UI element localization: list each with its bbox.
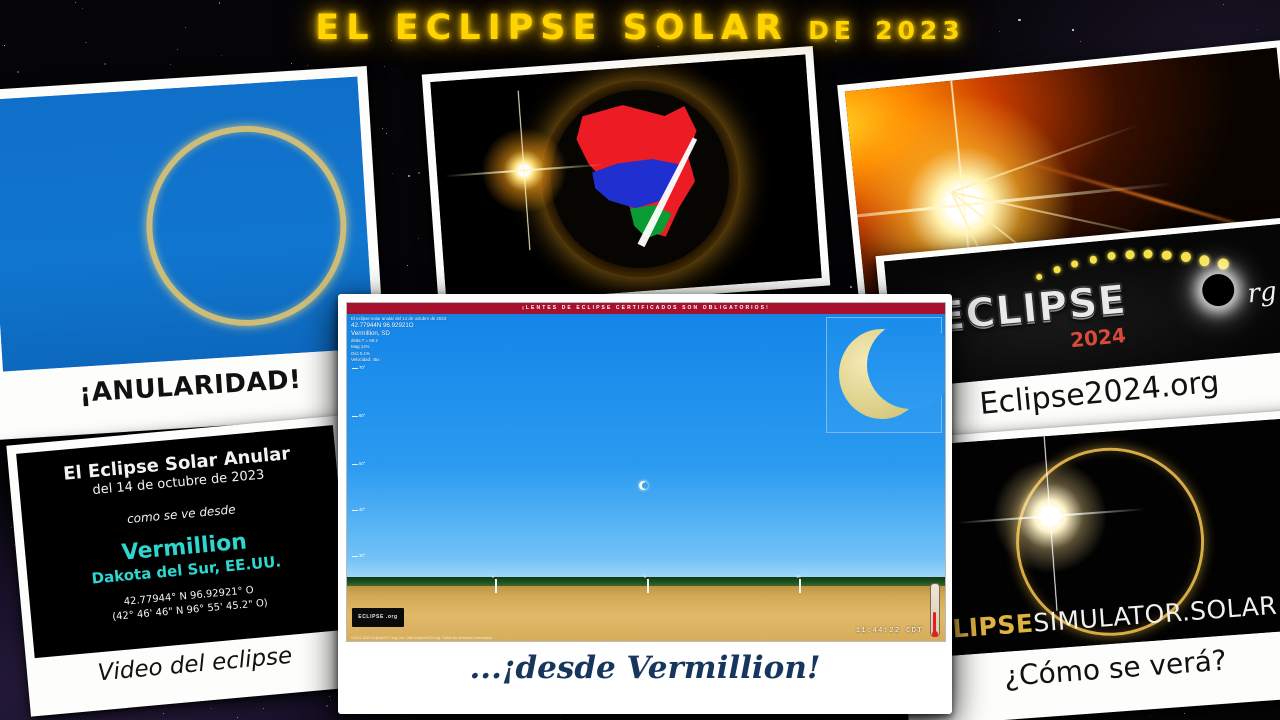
eclipse2024-org-suffix: rg bbox=[1246, 277, 1278, 310]
thermometer-bulb bbox=[932, 631, 938, 637]
crescent-sun-icon bbox=[639, 481, 648, 490]
azimuth-marker-post: 0 bbox=[495, 579, 497, 593]
azimuth-marker-post: 5 bbox=[647, 579, 649, 593]
azimuth-marker-label: 0 bbox=[492, 574, 494, 579]
sim-info-magnitude: Mag 14% bbox=[351, 344, 370, 349]
sim-info-delta-t: delta T = 69.2 bbox=[351, 338, 378, 343]
altitude-tick: 70° bbox=[359, 365, 365, 370]
azimuth-marker-label: 5 bbox=[644, 574, 646, 579]
card-globe[interactable] bbox=[422, 46, 831, 314]
sim-info-location: Vermillion, SD bbox=[351, 330, 446, 338]
simulator-timestamp: 11:44:22 CDT bbox=[856, 627, 923, 635]
eclipse-org-watermark: ECLIPSE .org bbox=[352, 608, 404, 627]
card-main-simulator[interactable]: ¡LENTES DE ECLIPSE CERTIFICADOS SON OBLI… bbox=[338, 294, 952, 714]
sim-info-coords: 42.77944N 96.92921O bbox=[351, 322, 446, 330]
sim-info-obscuration: Osc 5.1% bbox=[351, 351, 370, 356]
globe-photo bbox=[430, 55, 821, 306]
magnified-sun-inset[interactable] bbox=[826, 317, 942, 433]
page-title: EL ECLIPSE SOLAR DE 2023 bbox=[0, 8, 1280, 48]
safety-banner: ¡LENTES DE ECLIPSE CERTIFICADOS SON OBLI… bbox=[347, 303, 945, 314]
page-title-year: 2023 bbox=[875, 16, 965, 45]
simulator-info-panel: El eclipse solar anular del 14 de octubr… bbox=[351, 316, 446, 363]
sim-info-speed: Velocidad: 45x bbox=[351, 357, 380, 362]
simulator-solar-logo-image: ECLIPSESIMULATOR.SOLAR bbox=[897, 418, 1280, 659]
azimuth-marker-post: 10 bbox=[799, 579, 801, 593]
annularity-photo bbox=[0, 77, 374, 372]
sun-flare-icon bbox=[478, 124, 570, 216]
inset-moon-shadow-icon bbox=[867, 321, 946, 409]
poster-stage: EL ECLIPSE SOLAR DE 2023 ¡ANULARIDAD! El… bbox=[0, 0, 1280, 720]
card-video[interactable]: El Eclipse Solar Anular del 14 de octubr… bbox=[6, 415, 365, 716]
globe-night-side bbox=[545, 84, 736, 275]
azimuth-marker-label: 10 bbox=[796, 574, 800, 579]
card-main-caption: ...¡desde Vermillion! bbox=[338, 650, 952, 686]
eclipse-simulator-screenshot[interactable]: ¡LENTES DE ECLIPSE CERTIFICADOS SON OBLI… bbox=[346, 302, 946, 642]
altitude-tick: 40° bbox=[359, 507, 365, 512]
thermometer-icon bbox=[930, 583, 940, 637]
page-title-main: EL ECLIPSE SOLAR bbox=[315, 8, 789, 48]
globe-scene bbox=[430, 55, 821, 306]
altitude-tick: 30° bbox=[359, 553, 365, 558]
video-thumbnail: El Eclipse Solar Anular del 14 de octubr… bbox=[16, 425, 351, 658]
page-title-de: DE bbox=[808, 16, 856, 45]
altitude-tick: 60° bbox=[359, 413, 365, 418]
diamond-ring-flash-icon bbox=[990, 456, 1110, 576]
card-annularity[interactable]: ¡ANULARIDAD! bbox=[0, 66, 389, 440]
sim-info-headline: El eclipse solar anular del 14 de octubr… bbox=[351, 316, 446, 321]
simulator-copyright: ©2011-2023 Eclipse2017.org, Inc. DBA Ecl… bbox=[351, 636, 493, 640]
altitude-tick: 50° bbox=[359, 461, 365, 466]
